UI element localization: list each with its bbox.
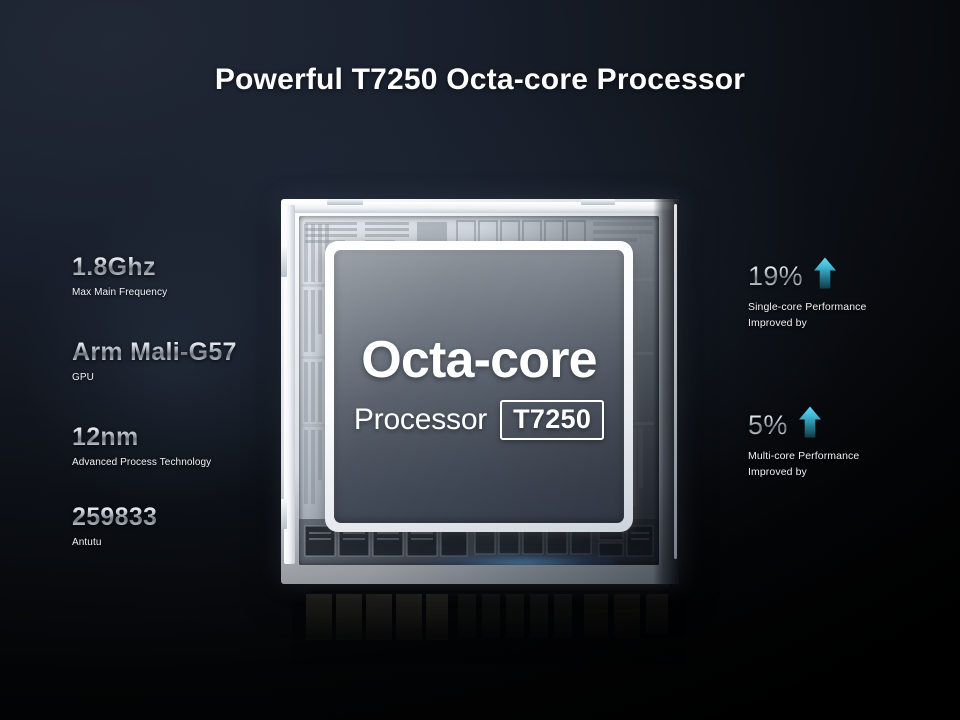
product-feature-slide: Powerful T7250 Octa-core Processor 1.8Gh… <box>0 0 960 720</box>
page-title: Powerful T7250 Octa-core Processor <box>0 63 960 97</box>
spec-value: 12nm <box>72 425 211 450</box>
spec-caption: Max Main Frequency <box>72 287 167 300</box>
chip-die-border: Octa-core Processor T7250 <box>325 241 633 532</box>
reflection-pin-rows-icon <box>292 592 684 676</box>
die-subtitle: Processor <box>354 405 487 435</box>
perf-value-row: 5% <box>748 405 859 439</box>
perf-caption-line2: Improved by <box>748 465 859 481</box>
spec-value: Arm Mali-G57 <box>72 340 237 365</box>
perf-caption-line2: Improved by <box>748 316 866 332</box>
perf-value-row: 19% <box>748 256 866 290</box>
perf-item-single-core: 19% Single-core Performance Improved by <box>748 256 866 332</box>
die-subtitle-row: Processor T7250 <box>354 400 604 440</box>
chip-die-face: Octa-core Processor T7250 <box>334 250 624 523</box>
perf-item-multi-core: 5% Multi-core Performance Improved by <box>748 405 859 481</box>
arrow-up-icon <box>798 406 822 438</box>
spec-value: 259833 <box>72 505 157 530</box>
spec-caption: Advanced Process Technology <box>72 457 211 470</box>
perf-caption-line1: Multi-core Performance <box>748 449 859 465</box>
chip-base-shadow <box>309 583 669 593</box>
spec-value: 1.8Ghz <box>72 255 167 280</box>
chip-bezel-tab <box>581 199 615 205</box>
chip-bezel-tab <box>281 247 287 277</box>
chip-right-edge-highlight <box>674 204 677 559</box>
perf-caption: Single-core Performance Improved by <box>748 300 866 332</box>
perf-percent: 5% <box>748 412 788 439</box>
perf-percent: 19% <box>748 263 803 290</box>
perf-caption: Multi-core Performance Improved by <box>748 449 859 481</box>
perf-caption-line1: Single-core Performance <box>748 300 866 316</box>
spec-item-gpu: Arm Mali-G57 GPU <box>72 340 237 385</box>
model-badge: T7250 <box>500 400 604 440</box>
spec-item-frequency: 1.8Ghz Max Main Frequency <box>72 255 167 300</box>
chip-bezel-tab <box>327 199 363 205</box>
processor-chip-image: Octa-core Processor T7250 <box>281 199 679 584</box>
die-title: Octa-core <box>361 334 597 386</box>
spec-caption: GPU <box>72 372 237 385</box>
chip-bezel-tab <box>281 499 287 529</box>
spec-caption: Antutu <box>72 537 157 550</box>
spec-item-antutu: 259833 Antutu <box>72 505 157 550</box>
spec-item-process: 12nm Advanced Process Technology <box>72 425 211 470</box>
arrow-up-icon <box>813 257 837 289</box>
chip-reflection <box>292 592 684 676</box>
